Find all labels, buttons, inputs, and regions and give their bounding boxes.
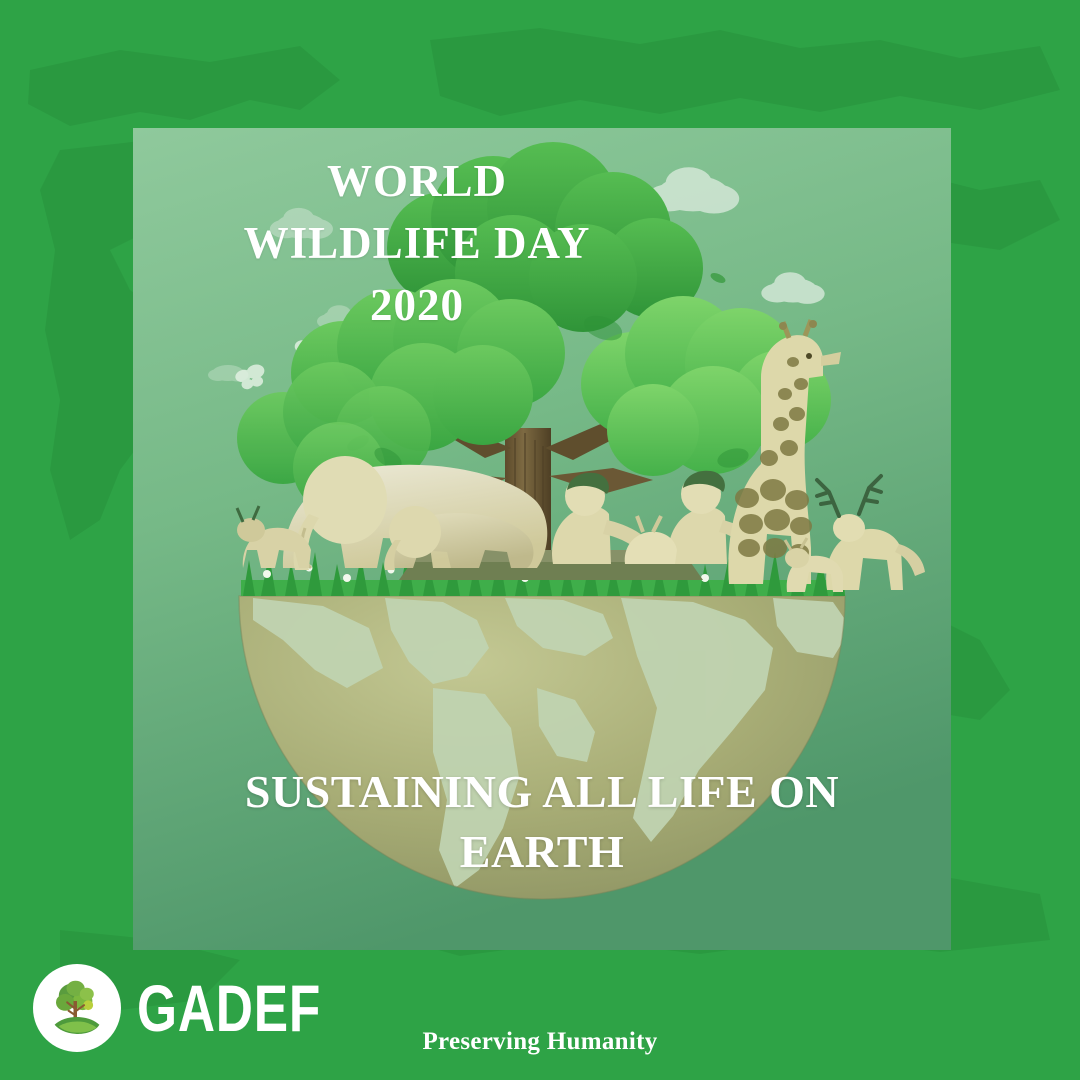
slogan-line-2: EARTH	[159, 822, 925, 882]
headline-line-2: WILDLIFE DAY	[133, 212, 701, 274]
slogan-line-1: SUSTAINING ALL LIFE ON	[159, 762, 925, 822]
headline-line-3: 2020	[133, 274, 701, 336]
headline: WORLD WILDLIFE DAY 2020	[133, 150, 951, 336]
headline-line-1: WORLD	[133, 150, 701, 212]
tagline: Preserving Humanity	[0, 1028, 1080, 1056]
footer: GADEF Preserving Humanity	[0, 950, 1080, 1080]
slogan: SUSTAINING ALL LIFE ON EARTH	[133, 762, 951, 882]
artwork-panel: WORLD WILDLIFE DAY 2020 SUSTAINING ALL L…	[133, 128, 951, 950]
poster-canvas: WORLD WILDLIFE DAY 2020 SUSTAINING ALL L…	[0, 0, 1080, 1080]
